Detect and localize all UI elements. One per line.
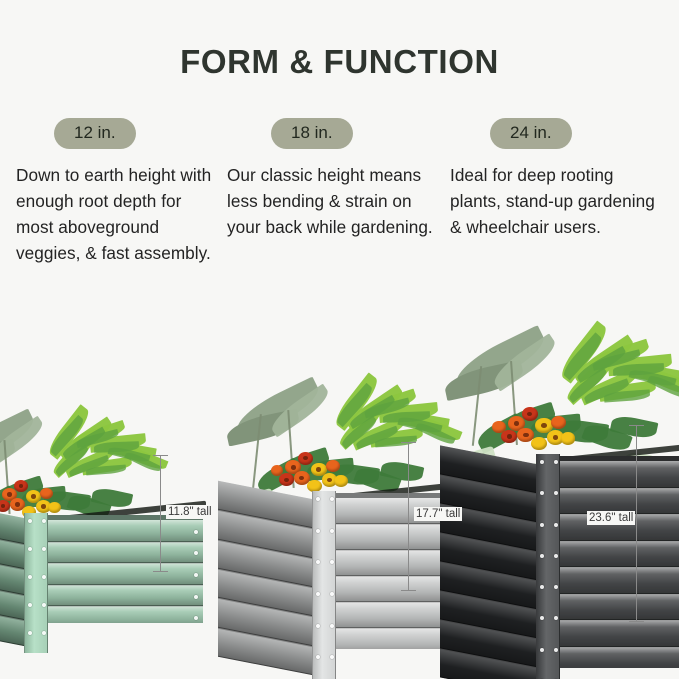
product-photo-row: 11.8" tall 17.7" tall 23.6" tall <box>0 320 679 679</box>
height-badge-12in: 12 in. <box>54 118 136 149</box>
planter-corner-post-silver <box>312 491 336 679</box>
benefit-column-18in: 18 in. Our classic height means less ben… <box>227 118 433 240</box>
height-badge-18in: 18 in. <box>271 118 353 149</box>
dimension-label-12in: 11.8" tall <box>166 505 214 519</box>
dimension-line-18in <box>408 442 409 590</box>
infographic-page: FORM & FUNCTION 12 in. Down to earth hei… <box>0 0 679 679</box>
height-badge-24in: 24 in. <box>490 118 572 149</box>
planter-front-panel-charcoal <box>545 456 679 668</box>
dimension-cap-bottom-12in <box>153 571 168 572</box>
dimension-label-18in: 17.7" tall <box>414 507 462 521</box>
dimension-line-12in <box>160 455 161 571</box>
benefit-text-24in: Ideal for deep rooting plants, stand-up … <box>450 162 656 240</box>
benefit-text-18in: Our classic height means less bending & … <box>227 162 433 240</box>
benefit-columns: 12 in. Down to earth height with enough … <box>0 118 679 318</box>
planter-front-panel-sage <box>33 515 203 623</box>
planter-side-panel-silver <box>218 481 322 677</box>
dimension-line-24in <box>636 425 637 621</box>
benefit-column-24in: 24 in. Ideal for deep rooting plants, st… <box>450 118 656 240</box>
benefit-column-12in: 12 in. Down to earth height with enough … <box>16 118 222 266</box>
planter-side-panel-charcoal <box>440 445 546 679</box>
planter-corner-post-charcoal <box>536 454 560 679</box>
page-title: FORM & FUNCTION <box>0 43 679 81</box>
dimension-cap-bottom-18in <box>401 590 416 591</box>
dimension-label-24in: 23.6" tall <box>587 511 635 525</box>
benefit-text-12in: Down to earth height with enough root de… <box>16 162 222 267</box>
dimension-cap-bottom-24in <box>629 621 644 622</box>
planter-corner-post-sage <box>24 513 48 653</box>
